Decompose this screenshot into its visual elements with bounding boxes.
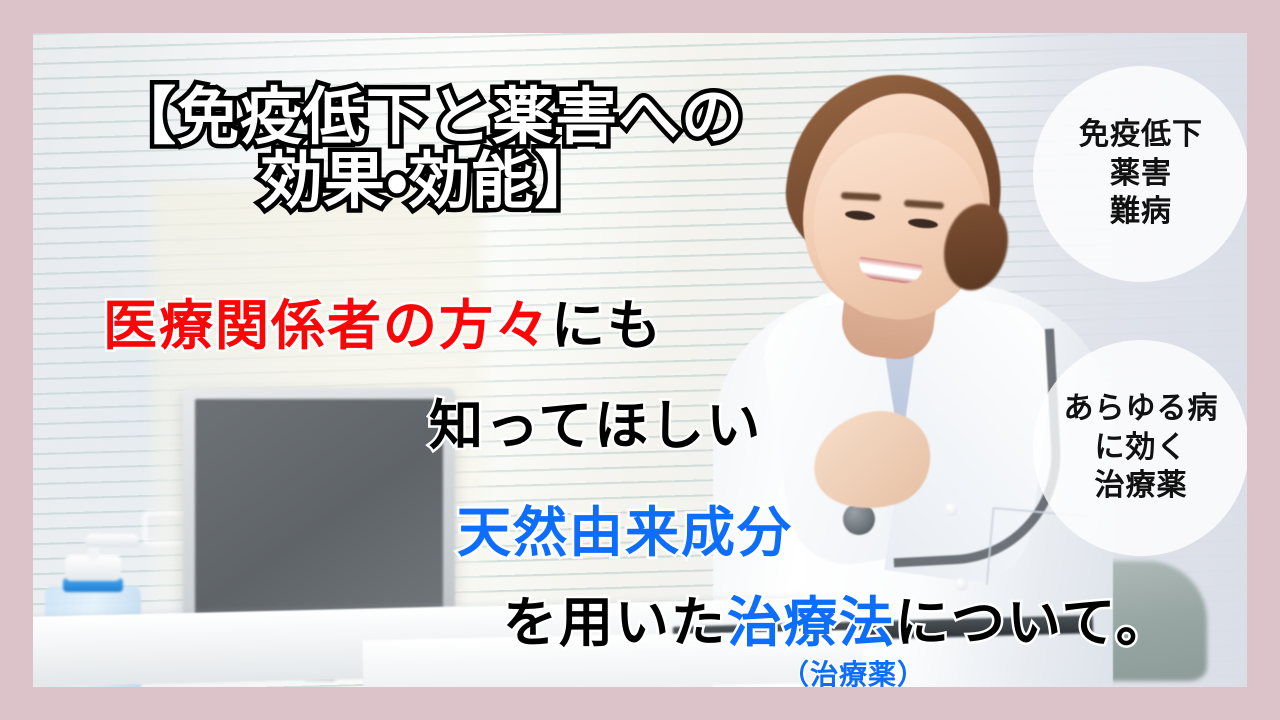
poster-title: 【免疫低下と薬害への 効果・効能】	[79, 85, 779, 214]
poster-root: 免疫低下 薬害 難病 あらゆる病 に効く 治療薬 【免疫低下と薬害への 効果・効…	[0, 0, 1280, 720]
headline-line-5: を用いた治療法について。	[503, 578, 1172, 657]
headline-therapy: 治療法	[727, 591, 895, 654]
headline-note-medicine: （治療薬）	[781, 658, 926, 687]
headline-line-2: 医療関係者の方々にも	[103, 281, 663, 360]
headline-natural-ingredients: 天然由来成分	[457, 501, 793, 564]
headline-line-3: 知ってほしい	[429, 381, 762, 460]
headline-line-4: 天然由来成分	[457, 488, 793, 567]
headline-note: （治療薬）	[781, 653, 926, 687]
title-line-1: 【免疫低下と薬害への	[114, 80, 744, 153]
headline-nimo: にも	[551, 294, 663, 357]
photo-stage: 免疫低下 薬害 難病 あらゆる病 に効く 治療薬 【免疫低下と薬害への 効果・効…	[33, 33, 1247, 687]
headline-text-layer: 【免疫低下と薬害への 効果・効能】 医療関係者の方々にも 知ってほしい 天然由来…	[33, 33, 1247, 687]
headline-about: について。	[895, 591, 1172, 654]
headline-using: を用いた	[503, 591, 727, 654]
title-line-2: 効果・効能】	[79, 149, 779, 213]
headline-medical-staff: 医療関係者の方々	[103, 294, 551, 357]
headline-want-you-to-know: 知ってほしい	[429, 394, 762, 457]
